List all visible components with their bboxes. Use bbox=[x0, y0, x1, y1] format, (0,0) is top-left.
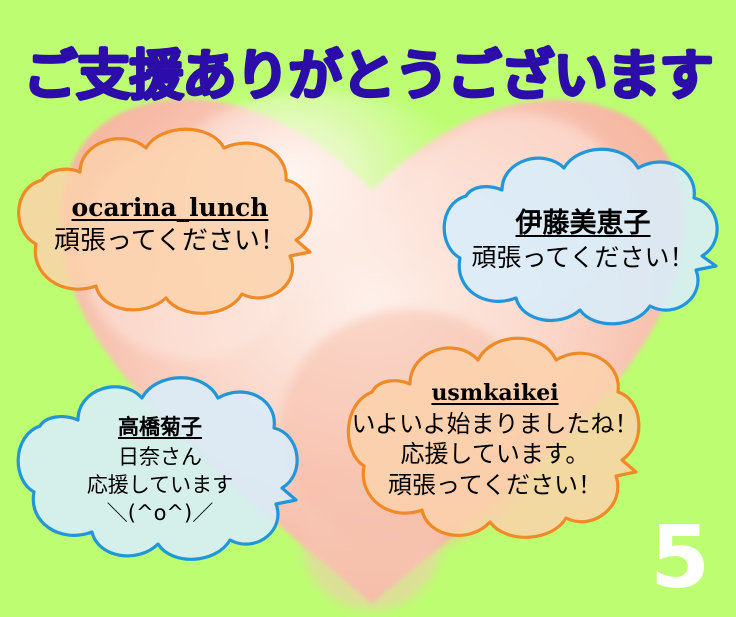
bubble-message-line: 頑張ってください！ bbox=[388, 470, 602, 500]
bubble-text-usmkaikei: usmkaikei いよいよ始まりましたね！ 応援しています。 頑張ってください… bbox=[344, 334, 658, 554]
page-title: ご支援ありがとうございます bbox=[0, 48, 736, 105]
bubble-text-ocarina: ocarina_lunch 頑張ってください！ bbox=[14, 126, 340, 330]
speech-bubble-ito-mieko: 伊藤美恵子 頑張ってください！ bbox=[440, 146, 726, 328]
bubble-message-line: 応援しています bbox=[87, 471, 233, 499]
speech-bubble-usmkaikei: usmkaikei いよいよ始まりましたね！ 応援しています。 頑張ってください… bbox=[344, 334, 646, 546]
bubble-message-line: 応援しています。 bbox=[401, 439, 590, 469]
bubble-handle: 伊藤美恵子 bbox=[516, 201, 651, 240]
slide-canvas: ご支援ありがとうございます ocarina_lunch 頑張ってください！ 伊藤… bbox=[0, 0, 736, 617]
bubble-handle: 高橋菊子 bbox=[118, 411, 202, 441]
bubble-message-line: 日奈さん bbox=[118, 443, 202, 471]
bubble-handle: ocarina_lunch bbox=[72, 193, 269, 222]
bubble-text-ito: 伊藤美恵子 頑張ってください！ bbox=[440, 146, 736, 332]
bubble-handle: usmkaikei bbox=[431, 380, 558, 406]
speech-bubble-ocarina: ocarina_lunch 頑張ってください！ bbox=[14, 126, 326, 324]
bubble-message-line: 頑張ってください！ bbox=[54, 226, 286, 258]
bubble-message-line: いよいよ始まりましたね！ bbox=[351, 409, 638, 439]
bubble-text-takahashi: 高橋菊子 日奈さん 応援しています ＼(^o^)／ bbox=[14, 374, 320, 568]
bubble-message-line: 頑張ってください！ bbox=[471, 243, 694, 273]
page-number: 5 bbox=[650, 524, 710, 593]
bubble-message-line: ＼(^o^)／ bbox=[107, 499, 213, 527]
speech-bubble-takahashi-kikuko: 高橋菊子 日奈さん 応援しています ＼(^o^)／ bbox=[14, 374, 306, 564]
